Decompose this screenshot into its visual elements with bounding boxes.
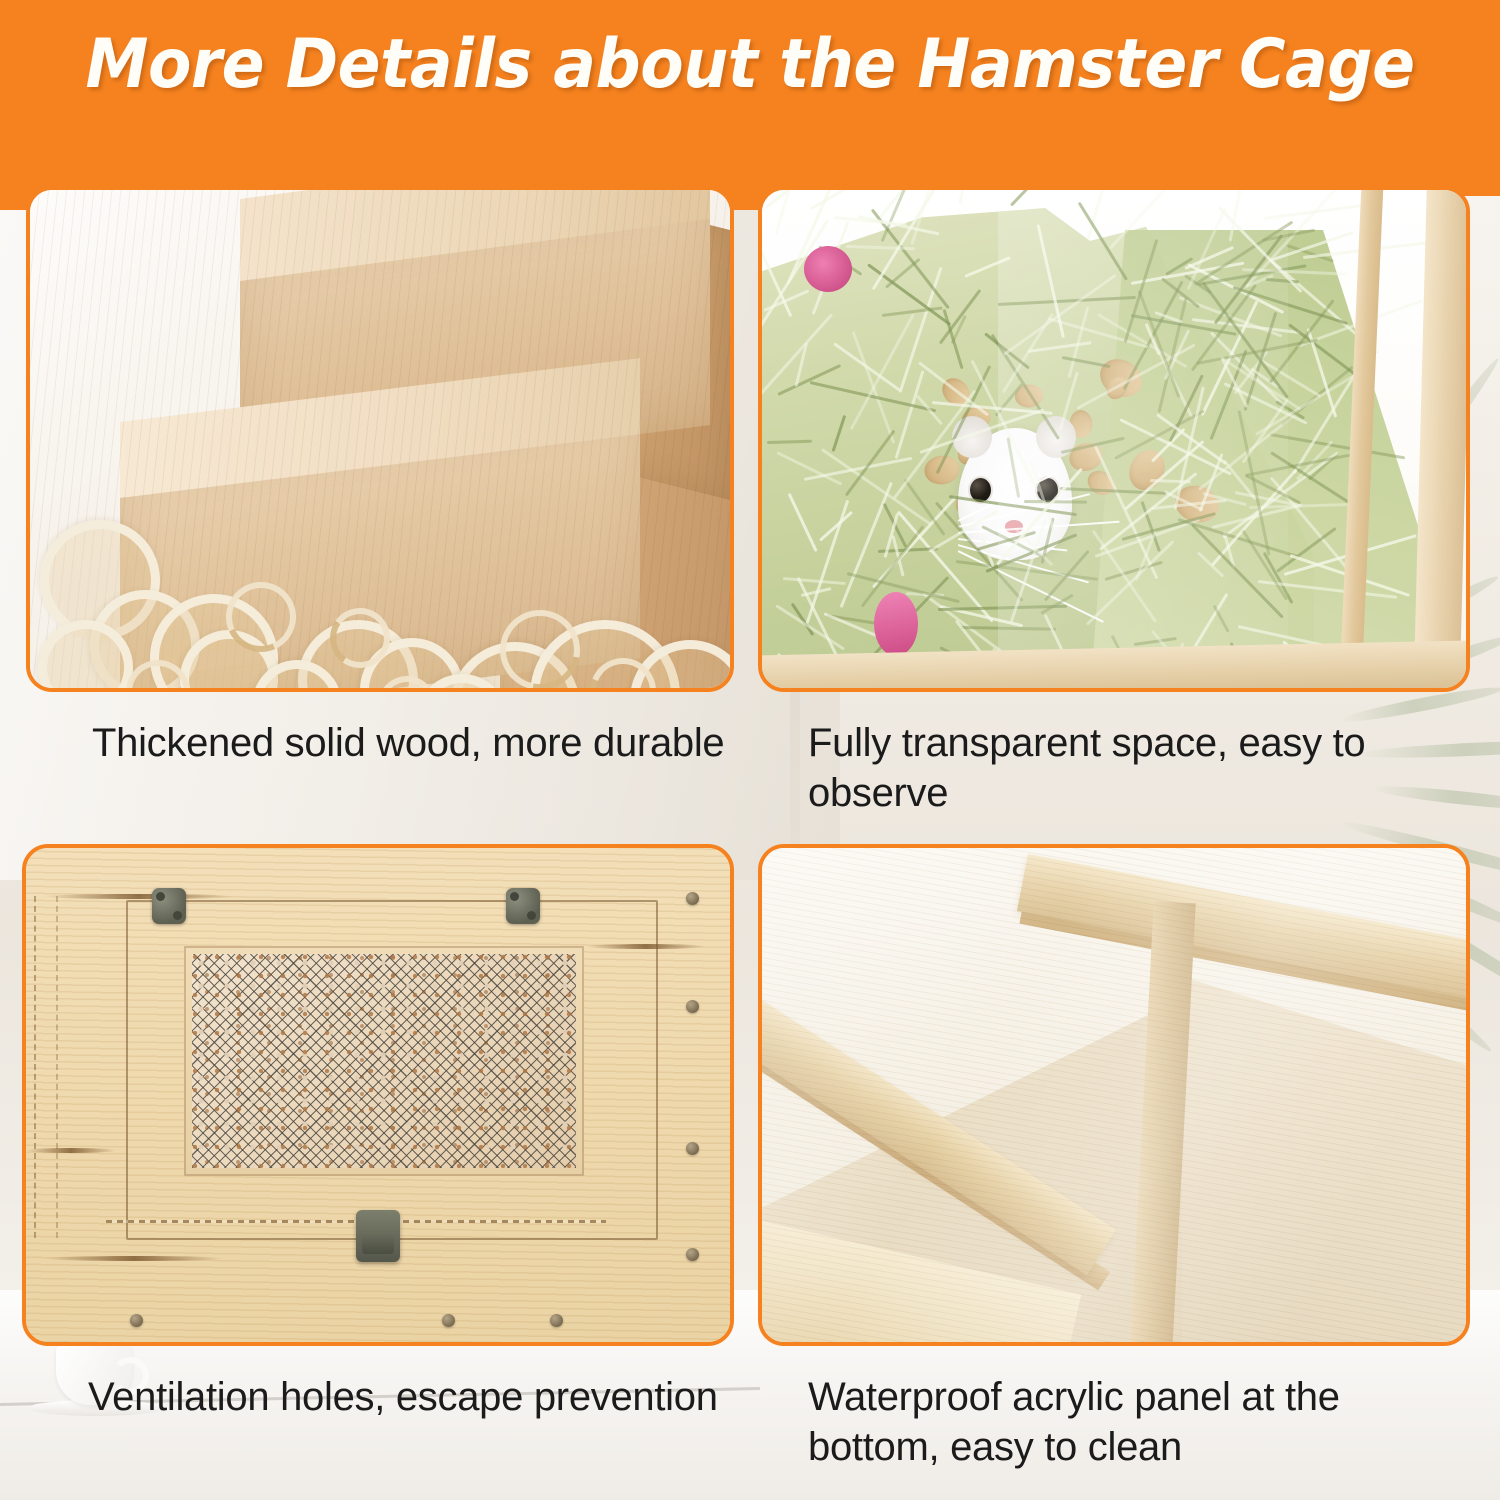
- hay-straw: [1242, 399, 1289, 463]
- door-wood-knot: [44, 1256, 224, 1261]
- door-hinge-right: [506, 888, 540, 924]
- hay-straw: [958, 186, 969, 204]
- hay-straw: [767, 440, 812, 444]
- hay-straw: [1109, 186, 1210, 249]
- hay-straw: [833, 342, 900, 391]
- wire-mesh-ventilation: [192, 954, 576, 1168]
- hay-straw: [965, 256, 1012, 278]
- hay-straw: [1061, 437, 1125, 454]
- hay-straw: [1133, 637, 1176, 646]
- dried-flower: [804, 246, 852, 292]
- feature-card-fully-transparent-space: Fully transparent space, easy to observe: [758, 186, 1470, 818]
- hay-straw: [758, 314, 832, 403]
- door-screw: [130, 1314, 143, 1327]
- door-latch: [356, 1210, 400, 1262]
- hay-straw: [1264, 203, 1371, 220]
- hay-straw: [788, 493, 818, 552]
- hay-straw: [1061, 356, 1109, 368]
- ventilation-door-illustration: [26, 848, 730, 1342]
- infographic-page: More Details about the Hamster Cage Thic…: [0, 0, 1500, 1500]
- feature-caption-thickened-solid-wood: Thickened solid wood, more durable: [26, 692, 734, 768]
- door-screw: [686, 892, 699, 905]
- acrylic-base-illustration: [762, 848, 1466, 1342]
- hay-straw: [783, 577, 846, 585]
- door-hinge-left: [152, 888, 186, 924]
- hay-straw: [1078, 202, 1129, 281]
- door-screw: [686, 1248, 699, 1261]
- feature-photo-thickened-solid-wood: [26, 186, 734, 692]
- hay-straw: [1059, 372, 1079, 431]
- wood-blocks-illustration: [30, 190, 730, 688]
- hamster-in-hay-illustration: [762, 190, 1466, 688]
- hay-straw: [765, 186, 851, 209]
- hay-straw: [778, 364, 842, 396]
- hay-straw: [831, 415, 846, 452]
- door-screw: [686, 1000, 699, 1013]
- door-wood-knot: [44, 894, 234, 899]
- hay-straw: [894, 371, 924, 459]
- hay-straw: [1028, 341, 1092, 353]
- hay-straw: [998, 296, 1136, 306]
- feature-card-ventilation-holes: Ventilation holes, escape prevention: [22, 844, 734, 1422]
- feature-card-thickened-solid-wood: Thickened solid wood, more durable: [26, 186, 734, 768]
- door-left-edge: [34, 896, 58, 1238]
- hay-straw: [1229, 186, 1251, 242]
- door-screw: [442, 1314, 455, 1327]
- hay-straw: [1213, 604, 1230, 632]
- hay-straw: [1270, 451, 1352, 505]
- feature-caption-fully-transparent-space: Fully transparent space, easy to observe: [758, 692, 1470, 818]
- feature-caption-ventilation-holes: Ventilation holes, escape prevention: [22, 1346, 734, 1422]
- hay-straw: [1024, 500, 1087, 504]
- feature-caption-waterproof-acrylic-panel: Waterproof acrylic panel at the bottom, …: [758, 1346, 1470, 1472]
- door-screw: [686, 1142, 699, 1155]
- dried-flower: [874, 592, 918, 656]
- hay-straw: [949, 495, 1078, 516]
- feature-card-waterproof-acrylic-panel: Waterproof acrylic panel at the bottom, …: [758, 844, 1470, 1472]
- acrylic-wood-grain-texture: [762, 848, 1466, 1342]
- hay-straw: [846, 245, 915, 250]
- page-title: More Details about the Hamster Cage: [53, 22, 1448, 108]
- hay-straw: [1087, 186, 1120, 240]
- feature-photo-fully-transparent-space: [758, 186, 1470, 692]
- feature-photo-ventilation-holes: [22, 844, 734, 1346]
- hay-straw: [920, 408, 1045, 454]
- feature-photo-waterproof-acrylic-panel: [758, 844, 1470, 1346]
- hay-straw: [893, 390, 976, 500]
- hay-straws-group: [758, 200, 1422, 690]
- door-screw: [550, 1314, 563, 1327]
- hay-straw: [970, 360, 1039, 492]
- feature-card-grid: Thickened solid wood, more durable: [0, 0, 1500, 1500]
- hay-straw: [916, 394, 943, 425]
